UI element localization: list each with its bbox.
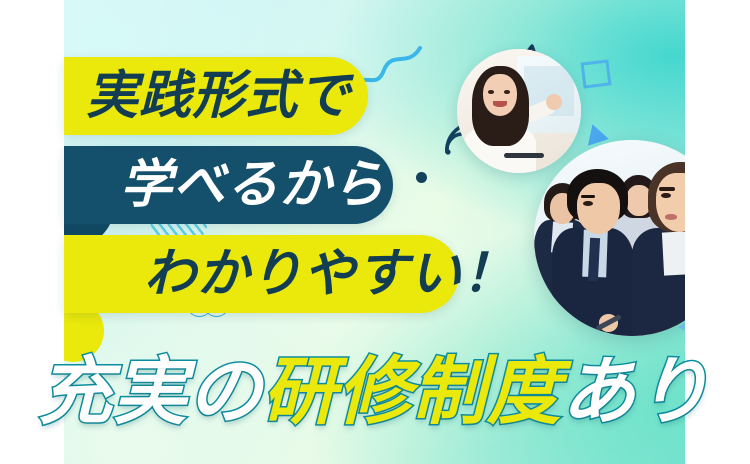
seminar-attendees-photo — [534, 140, 685, 336]
attendee-front-right-lip — [665, 214, 677, 219]
headline: 充実の 研修制度 あり — [64, 344, 685, 440]
tagline-pill-3: わかりやすい！ — [64, 235, 459, 313]
attendee-front-right-shirt — [662, 232, 685, 276]
headline-part-white-1: 充実の — [38, 355, 262, 429]
tagline-pill-2: 学べるから — [64, 146, 393, 224]
headline-part-yellow: 研修制度 — [262, 355, 561, 429]
presenter-eye-left — [488, 90, 494, 94]
presenter-eye-right — [504, 90, 510, 94]
attendee-front-left-tie — [588, 238, 600, 282]
teal-dot-icon — [416, 172, 427, 183]
attendee-front-left-brow — [581, 195, 595, 199]
tagline-text-3: わかりやすい！ — [64, 248, 515, 300]
headline-part-white-2: あり — [561, 355, 710, 429]
tagline-text-1: 実践形式で — [64, 70, 351, 122]
tagline-pill-1: 実践形式で — [64, 57, 368, 135]
square-outline-icon — [581, 59, 612, 88]
attendee-front-right-brow — [659, 187, 675, 191]
attendee-front-left-face — [577, 183, 620, 234]
attendee-front-left-eye — [583, 201, 593, 206]
tagline-text-2: 学べるから — [64, 159, 385, 211]
presenter-face — [483, 74, 516, 116]
presenter-hand — [546, 94, 562, 110]
attendee-front-right-arm — [634, 303, 685, 336]
banner-root: 実践形式で 学べるから わかりやすい！ 充実の 研修制度 あり — [0, 0, 750, 464]
